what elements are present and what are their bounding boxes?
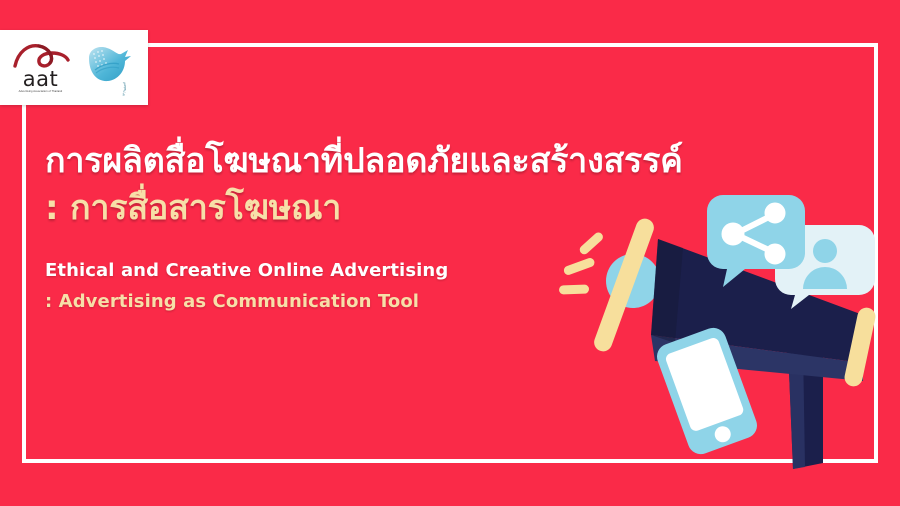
svg-text:Advertising Association of Tha: Advertising Association of Thailand — [95, 81, 126, 96]
aat-logo: aat Advertising Association of Thailand — [12, 42, 70, 94]
aat-tagline: Advertising Association of Thailand — [19, 91, 63, 94]
aat-wordmark: aat — [23, 69, 58, 90]
slide-canvas: aat Advertising Association of Thailand — [0, 0, 900, 506]
aat-swoosh-logo — [12, 42, 70, 70]
speed-lines-icon — [559, 231, 605, 295]
megaphone-illustration-svg — [555, 185, 895, 475]
megaphone-illustration — [555, 185, 895, 475]
title-thai-line-1: การผลิตสื่อโฆษณาที่ปลอดภัยและสร้างสรรค์ — [45, 140, 685, 183]
logo-plate: aat Advertising Association of Thailand — [0, 30, 148, 105]
dove-logo: Advertising Association of Thailand — [81, 40, 137, 96]
